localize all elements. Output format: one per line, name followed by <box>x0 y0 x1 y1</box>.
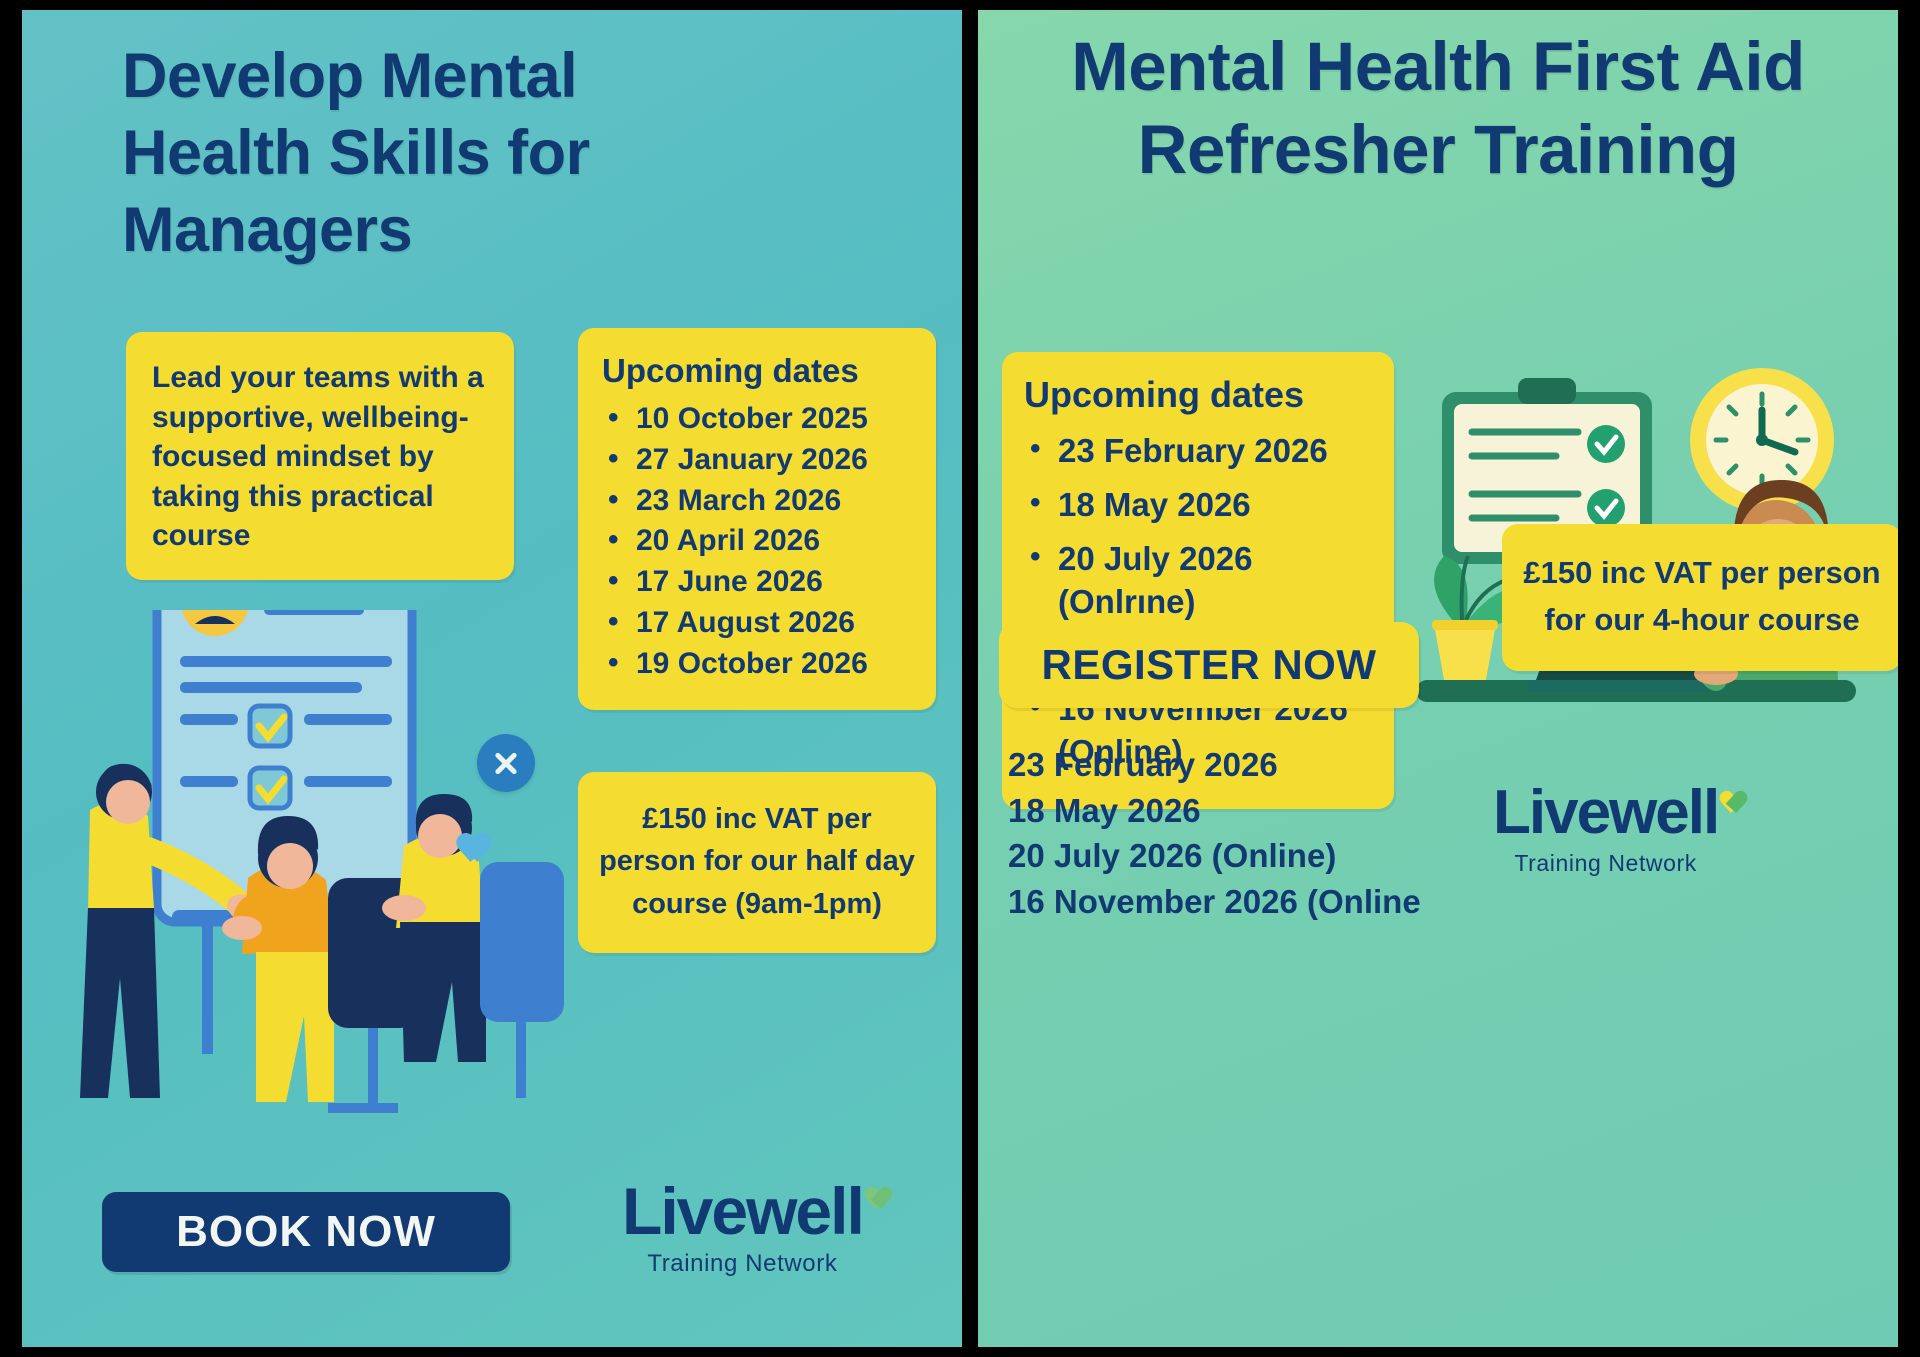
heart-icon <box>1722 788 1748 814</box>
upcoming-dates-card-right: Upcoming dates 23 February 2026 18 May 2… <box>1002 352 1394 809</box>
poster-mhfa-refresher: Mental Health First Aid Refresher Traini… <box>978 10 1898 1347</box>
book-now-button[interactable]: BOOK NOW <box>102 1192 510 1272</box>
bottom-dates-list-right: 23 February 2026 18 May 2026 20 July 202… <box>1008 742 1568 924</box>
upcoming-dates-heading-left: Upcoming dates <box>602 352 916 390</box>
upcoming-dates-card-left: Upcoming dates 10 October 2025 27 Januar… <box>578 328 936 710</box>
price-text-left: £150 inc VAT per person for our half day… <box>599 803 915 920</box>
price-text-right: £150 inc VAT per person for our 4-hour c… <box>1523 555 1880 637</box>
logo-wordmark-left: Livewell <box>622 1178 863 1244</box>
livewell-logo-right: Livewell Training Network <box>1493 782 1718 877</box>
list-item: 16 November 2026 (Online <box>1008 879 1568 925</box>
list-item: 27 January 2026 <box>602 441 916 479</box>
course-blurb-card: Lead your teams with a supportive, wellb… <box>126 332 514 580</box>
poster-pair-canvas: Develop Mental Health Skills for Manager… <box>0 0 1920 1357</box>
poster-right-title: Mental Health First Aid Refresher Traini… <box>1008 26 1868 192</box>
list-item: 17 June 2026 <box>602 563 916 601</box>
logo-tagline-right: Training Network <box>1493 850 1718 877</box>
logo-tagline-left: Training Network <box>622 1250 863 1278</box>
list-item: 20 July 2026 (Online) <box>1008 833 1568 879</box>
list-item: 23 February 2026 <box>1024 430 1374 473</box>
list-item: 18 May 2026 <box>1008 788 1568 834</box>
price-card-left: £150 inc VAT per person for our half day… <box>578 772 936 953</box>
list-item: 23 March 2026 <box>602 482 916 520</box>
register-now-button[interactable]: REGISTER NOW <box>999 622 1419 708</box>
heart-icon <box>867 1184 893 1210</box>
list-item: 10 October 2025 <box>602 400 916 438</box>
list-item: 20 April 2026 <box>602 522 916 560</box>
list-item: 23 February 2026 <box>1008 742 1568 788</box>
heart-icon <box>459 830 493 860</box>
list-item: 20 July 2026 (Onlrıne) <box>1024 538 1374 624</box>
poster-managers: Develop Mental Health Skills for Manager… <box>22 10 962 1347</box>
price-card-right: £150 inc VAT per person for our 4-hour c… <box>1502 524 1898 671</box>
upcoming-dates-list-left: 10 October 2025 27 January 2026 23 March… <box>602 400 916 683</box>
course-blurb-text: Lead your teams with a supportive, wellb… <box>152 361 484 552</box>
upcoming-dates-heading-right: Upcoming dates <box>1024 374 1374 416</box>
livewell-logo-left: Livewell Training Network <box>622 1178 863 1278</box>
list-item: 19 October 2026 <box>602 645 916 683</box>
close-icon[interactable] <box>477 734 535 792</box>
managers-meeting-illustration <box>52 610 572 1170</box>
upcoming-dates-list-right: 23 February 2026 18 May 2026 20 July 202… <box>1024 430 1374 774</box>
logo-wordmark-right: Livewell <box>1493 782 1718 844</box>
list-item: 18 May 2026 <box>1024 484 1374 527</box>
list-item: 17 August 2026 <box>602 604 916 642</box>
poster-left-title: Develop Mental Health Skills for Manager… <box>122 38 762 269</box>
